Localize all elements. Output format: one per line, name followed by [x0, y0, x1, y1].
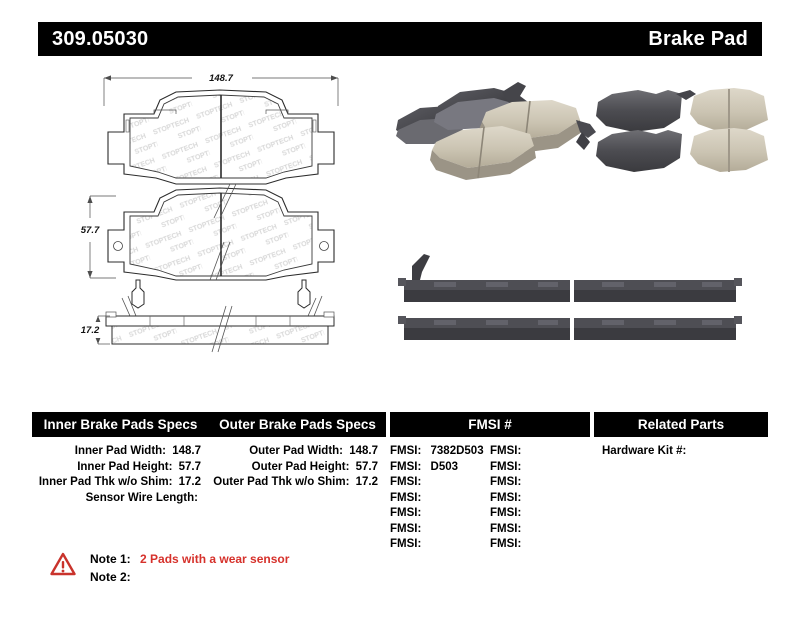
- column-outer-specs: Outer Pad Width: 148.7 Outer Pad Height:…: [209, 444, 386, 553]
- table-row: Outer Pad Height: 57.7: [209, 460, 386, 476]
- table-header-row: Inner Brake Pads Specs Outer Brake Pads …: [32, 412, 768, 437]
- pad-edge-photo-bottom: [398, 316, 742, 340]
- spec-label: Outer Pad Thk w/o Shim:: [213, 476, 349, 488]
- fmsi-label: FMSI:: [390, 492, 421, 504]
- spec-value: 17.2: [353, 476, 378, 488]
- product-photos: [390, 80, 780, 370]
- fmsi-label: FMSI:: [490, 538, 521, 550]
- fmsi-value: D503: [425, 461, 459, 473]
- fmsi-sub-column-left: FMSI: 7382D503 FMSI: D503 FMSI: FMSI: FM…: [390, 444, 490, 553]
- column-related-parts: Hardware Kit #:: [594, 444, 768, 553]
- spec-value: [375, 492, 378, 504]
- note-row: Note 2:: [90, 568, 289, 586]
- fmsi-label: FMSI:: [390, 445, 421, 457]
- pad-backing-bottom: [596, 130, 682, 172]
- spec-label: Sensor Wire Length:: [86, 492, 198, 504]
- height-dimension-label: 57.7: [81, 225, 100, 236]
- related-label: Hardware Kit #:: [602, 445, 686, 457]
- fmsi-label: FMSI:: [390, 507, 421, 519]
- fmsi-value: [521, 492, 527, 504]
- thickness-dimension-label: 17.2: [81, 325, 100, 336]
- table-row: FMSI:: [490, 491, 590, 507]
- photo-group-flat-pads: [596, 88, 768, 172]
- spec-table: Inner Brake Pads Specs Outer Brake Pads …: [32, 412, 768, 553]
- pad-plan-view: [108, 90, 334, 184]
- spec-label: Inner Pad Thk w/o Shim:: [39, 476, 173, 488]
- fmsi-value: [421, 538, 427, 550]
- note-value: 2 Pads with a wear sensor: [134, 552, 289, 566]
- fmsi-value: [521, 507, 527, 519]
- spec-label: Outer Pad Height:: [252, 461, 350, 473]
- pad-friction-top: [690, 88, 768, 132]
- fmsi-label: FMSI:: [490, 523, 521, 535]
- table-row: Inner Pad Thk w/o Shim: 17.2: [32, 475, 209, 491]
- notes-section: Note 1: 2 Pads with a wear sensor Note 2…: [50, 550, 289, 586]
- spec-label: Outer Pad Width:: [249, 445, 343, 457]
- page-title: Brake Pad: [648, 28, 748, 51]
- note-label: Note 2:: [90, 568, 131, 586]
- table-row: Inner Pad Height: 57.7: [32, 460, 209, 476]
- table-row: FMSI:: [490, 444, 590, 460]
- table-row: FMSI:: [390, 475, 490, 491]
- header-outer-specs: Outer Brake Pads Specs: [209, 417, 386, 432]
- notes-text: Note 1: 2 Pads with a wear sensor Note 2…: [90, 550, 289, 586]
- fmsi-label: FMSI:: [490, 476, 521, 488]
- table-row: FMSI:: [390, 491, 490, 507]
- note-label: Note 1:: [90, 550, 131, 568]
- header-inner-specs: Inner Brake Pads Specs: [32, 417, 209, 432]
- product-photo-svg: [390, 80, 780, 370]
- fmsi-label: FMSI:: [490, 445, 521, 457]
- fmsi-label: FMSI:: [490, 492, 521, 504]
- fmsi-value: [521, 476, 527, 488]
- table-row: Inner Pad Width: 148.7: [32, 444, 209, 460]
- header-bar: 309.05030 Brake Pad: [38, 22, 762, 56]
- spec-value: 57.7: [353, 461, 378, 473]
- note-row: Note 1: 2 Pads with a wear sensor: [90, 550, 289, 568]
- fmsi-value: [521, 538, 527, 550]
- spec-label: Inner Pad Height:: [77, 461, 172, 473]
- fmsi-value: [421, 492, 427, 504]
- fmsi-label: FMSI:: [390, 476, 421, 488]
- table-row: FMSI: D503: [390, 460, 490, 476]
- fmsi-value: 7382D503: [425, 445, 484, 457]
- table-row: FMSI:: [490, 460, 590, 476]
- table-row: Outer Pad Thk w/o Shim: 17.2: [209, 475, 386, 491]
- fmsi-value: [421, 476, 427, 488]
- fmsi-label: FMSI:: [390, 461, 421, 473]
- fmsi-value: [521, 445, 527, 457]
- fmsi-label: FMSI:: [390, 523, 421, 535]
- spec-value: 57.7: [176, 461, 201, 473]
- photo-group-edge-pads: [398, 254, 742, 340]
- note-value: [131, 570, 137, 584]
- header-fmsi: FMSI #: [390, 412, 590, 437]
- spec-label: Inner Pad Width:: [75, 445, 166, 457]
- fmsi-value: [521, 461, 527, 473]
- table-row: FMSI:: [390, 506, 490, 522]
- technical-drawing: STOPTECH STOPTECH 148.7: [80, 66, 380, 376]
- table-row: FMSI:: [390, 537, 490, 553]
- fmsi-label: FMSI:: [490, 461, 521, 473]
- column-inner-specs: Inner Pad Width: 148.7 Inner Pad Height:…: [32, 444, 209, 553]
- table-body: Inner Pad Width: 148.7 Inner Pad Height:…: [32, 437, 768, 553]
- table-row: FMSI:: [490, 522, 590, 538]
- pad-edge-photo-top-with-sensor: [398, 254, 742, 302]
- table-row: FMSI:: [490, 506, 590, 522]
- table-row: [209, 491, 386, 507]
- column-fmsi: FMSI: 7382D503 FMSI: D503 FMSI: FMSI: FM…: [386, 444, 590, 553]
- table-row: FMSI:: [390, 522, 490, 538]
- header-inner-outer: Inner Brake Pads Specs Outer Brake Pads …: [32, 412, 386, 437]
- spec-value: 17.2: [176, 476, 201, 488]
- brake-pad-drawing-svg: STOPTECH STOPTECH 148.7: [80, 66, 380, 376]
- table-row: FMSI:: [490, 537, 590, 553]
- photo-group-angled-pads: [396, 82, 596, 180]
- pad-friction-bottom: [690, 128, 768, 172]
- width-dimension-label: 148.7: [209, 73, 233, 84]
- table-row: FMSI: 7382D503: [390, 444, 490, 460]
- fmsi-label: FMSI:: [390, 538, 421, 550]
- spec-value: 148.7: [169, 445, 201, 457]
- fmsi-label: FMSI:: [490, 507, 521, 519]
- fmsi-value: [421, 507, 427, 519]
- fmsi-value: [421, 523, 427, 535]
- table-row: Sensor Wire Length:: [32, 491, 209, 507]
- table-row: FMSI:: [490, 475, 590, 491]
- table-row: Outer Pad Width: 148.7: [209, 444, 386, 460]
- pad-plan-view-2: [108, 184, 334, 308]
- spec-value: 148.7: [346, 445, 378, 457]
- part-number: 309.05030: [52, 28, 148, 51]
- warning-triangle-icon: [50, 552, 76, 576]
- spec-value: [198, 492, 201, 504]
- header-related-parts: Related Parts: [594, 412, 768, 437]
- fmsi-sub-column-right: FMSI: FMSI: FMSI: FMSI: FMSI:: [490, 444, 590, 553]
- table-row: Hardware Kit #:: [602, 444, 768, 460]
- fmsi-value: [521, 523, 527, 535]
- pad-backing-top: [596, 90, 696, 132]
